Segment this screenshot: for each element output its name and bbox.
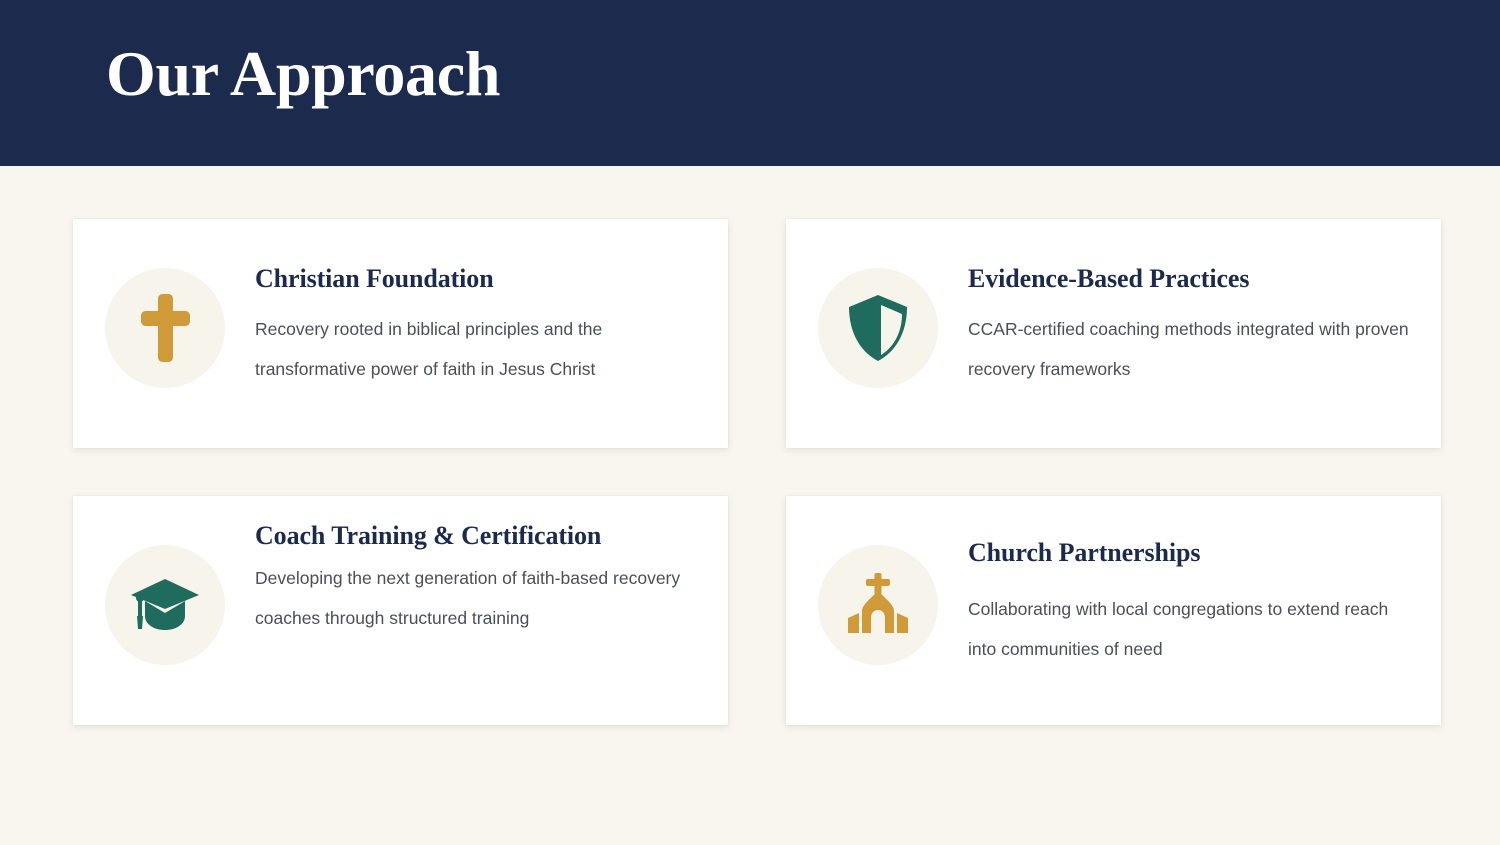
card-body: Coach Training & Certification Developin… — [225, 496, 728, 638]
approach-card-church-partnerships[interactable]: Church Partnerships Collaborating with l… — [786, 496, 1441, 725]
card-description: CCAR-certified coaching methods integrat… — [968, 310, 1411, 389]
card-description: Collaborating with local congregations t… — [968, 590, 1411, 669]
approach-card-christian-foundation[interactable]: Christian Foundation Recovery rooted in … — [73, 219, 728, 448]
church-icon — [844, 573, 912, 637]
icon-circle — [818, 545, 938, 665]
approach-card-evidence-based-practices[interactable]: Evidence-Based Practices CCAR-certified … — [786, 219, 1441, 448]
card-description: Developing the next generation of faith-… — [255, 559, 698, 638]
card-title: Evidence-Based Practices — [968, 262, 1411, 296]
card-description: Recovery rooted in biblical principles a… — [255, 310, 698, 389]
graduation-cap-icon — [129, 575, 201, 635]
approach-card-grid: Christian Foundation Recovery rooted in … — [73, 219, 1441, 725]
cross-icon — [137, 292, 193, 364]
card-title: Christian Foundation — [255, 262, 698, 296]
header-band: Our Approach — [0, 0, 1500, 166]
card-body: Church Partnerships Collaborating with l… — [938, 496, 1441, 669]
card-body: Christian Foundation Recovery rooted in … — [225, 219, 728, 389]
icon-circle — [105, 268, 225, 388]
icon-circle — [818, 268, 938, 388]
icon-circle — [105, 545, 225, 665]
card-title: Church Partnerships — [968, 536, 1411, 570]
approach-card-coach-training-certification[interactable]: Coach Training & Certification Developin… — [73, 496, 728, 725]
shield-icon — [846, 293, 910, 363]
card-body: Evidence-Based Practices CCAR-certified … — [938, 219, 1441, 389]
page-title: Our Approach — [106, 40, 500, 107]
card-title: Coach Training & Certification — [255, 519, 698, 553]
